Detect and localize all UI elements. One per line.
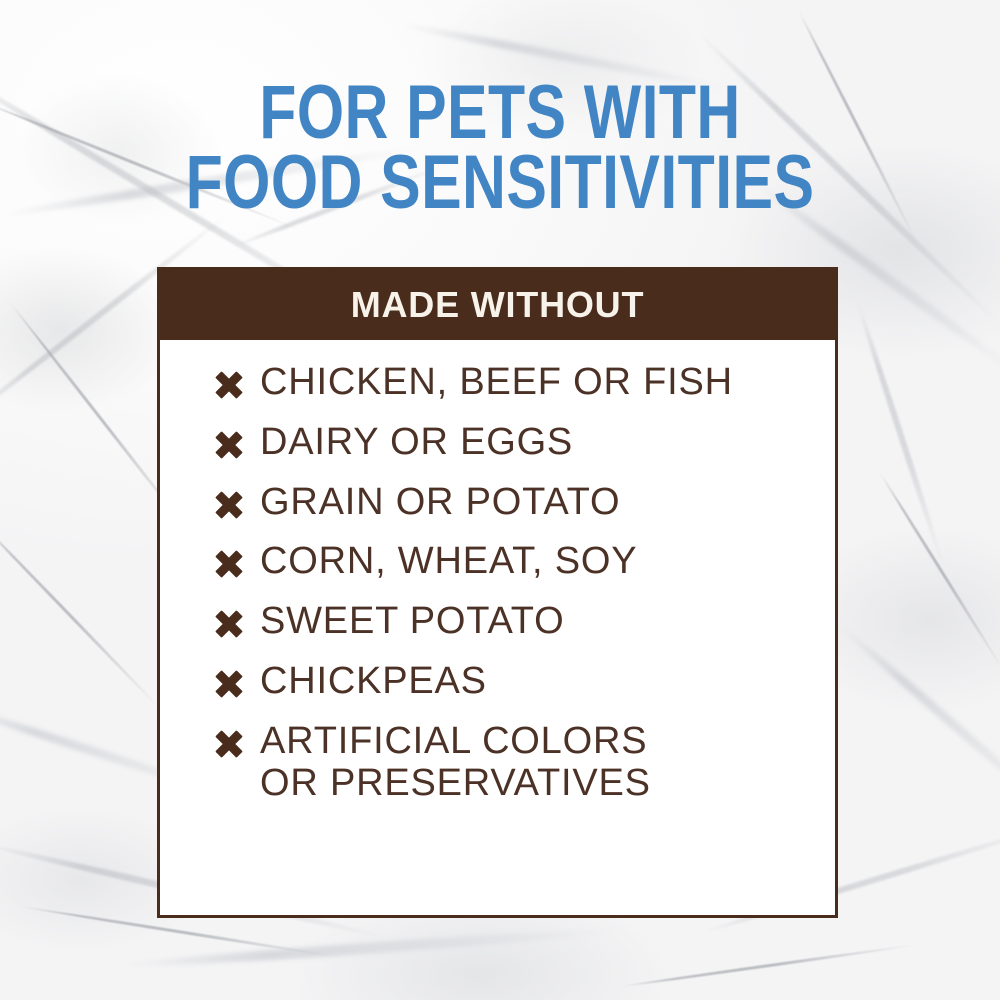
headline-line-2: FOOD SENSITIVITIES <box>100 148 900 218</box>
x-mark-icon <box>212 547 246 581</box>
list-item-label: ARTIFICIAL COLORS OR PRESERVATIVES <box>260 721 651 805</box>
product-feature-panel: FOR PETS WITH FOOD SENSITIVITIES MADE WI… <box>0 0 1000 1000</box>
x-mark-icon <box>212 428 246 462</box>
x-mark-icon <box>212 488 246 522</box>
card-header: MADE WITHOUT <box>160 270 835 340</box>
card-header-title: MADE WITHOUT <box>351 284 645 326</box>
x-mark-icon <box>212 727 246 761</box>
headline-line-1: FOR PETS WITH <box>100 78 900 148</box>
list-item-label: GRAIN OR POTATO <box>260 482 620 524</box>
excluded-ingredients-list: CHICKEN, BEEF OR FISH DAIRY OR EGGS GRAI… <box>160 362 835 804</box>
card-body: CHICKEN, BEEF OR FISH DAIRY OR EGGS GRAI… <box>160 340 835 915</box>
list-item-label: CHICKEN, BEEF OR FISH <box>260 362 733 404</box>
list-item: GRAIN OR POTATO <box>212 482 835 524</box>
list-item-label: DAIRY OR EGGS <box>260 422 573 464</box>
list-item: CORN, WHEAT, SOY <box>212 541 835 583</box>
list-item: CHICKEN, BEEF OR FISH <box>212 362 835 404</box>
x-mark-icon <box>212 607 246 641</box>
headline: FOR PETS WITH FOOD SENSITIVITIES <box>100 78 900 218</box>
list-item-label: CHICKPEAS <box>260 661 487 703</box>
list-item: CHICKPEAS <box>212 661 835 703</box>
list-item: ARTIFICIAL COLORS OR PRESERVATIVES <box>212 721 835 805</box>
list-item-label: CORN, WHEAT, SOY <box>260 541 637 583</box>
made-without-card: MADE WITHOUT CHICKEN, BEEF OR FISH DAIRY… <box>157 267 838 918</box>
list-item: DAIRY OR EGGS <box>212 422 835 464</box>
list-item-label: SWEET POTATO <box>260 601 565 643</box>
list-item: SWEET POTATO <box>212 601 835 643</box>
x-mark-icon <box>212 667 246 701</box>
x-mark-icon <box>212 368 246 402</box>
